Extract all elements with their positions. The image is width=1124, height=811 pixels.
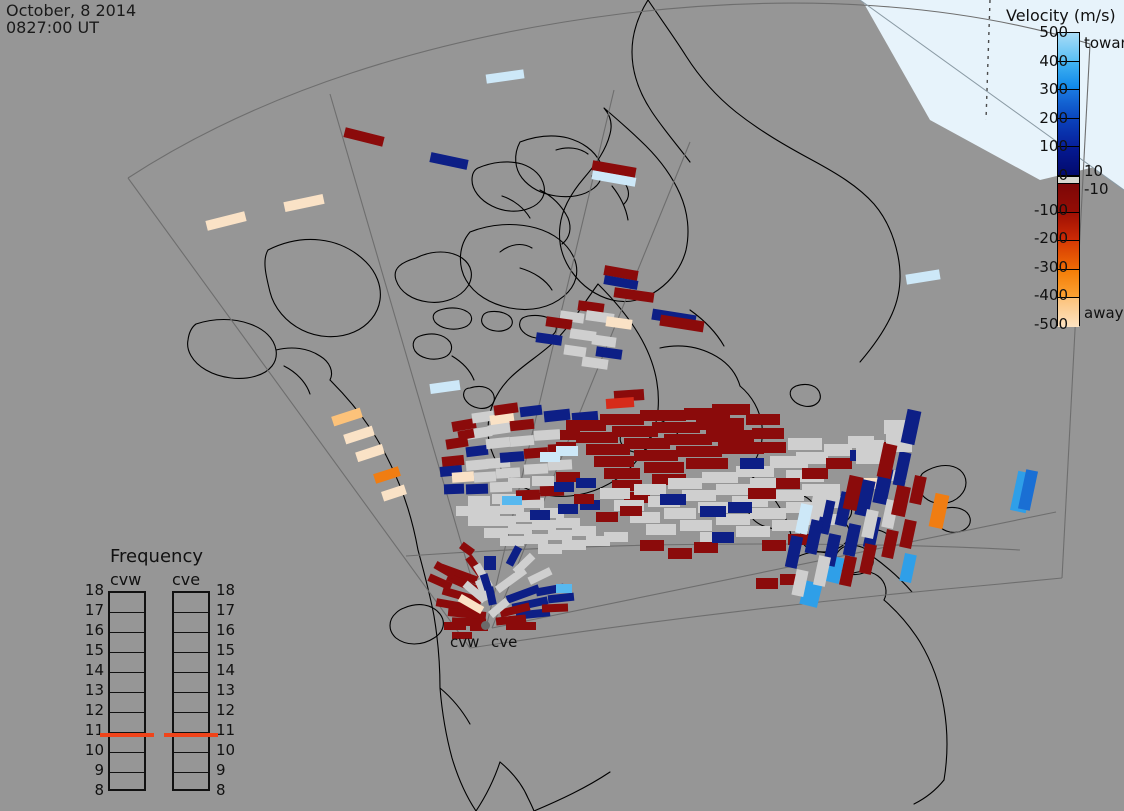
data-cell (343, 426, 375, 445)
radar-site-label-cve: cve (491, 633, 517, 651)
velocity-colorbar-panel: Velocity (m/s) 5004003002001000-100-200-… (984, 4, 1124, 334)
frequency-segment (110, 653, 144, 673)
frequency-segment (110, 633, 144, 653)
frequency-tick-right: 10 (216, 743, 235, 758)
data-cell (486, 69, 525, 83)
frequency-legend: Frequency cvw cve 18171615141312111098 1… (84, 546, 254, 786)
timestamp-label: October, 8 20140827:00 UT (6, 2, 136, 36)
frequency-tick-left: 12 (84, 703, 104, 718)
frequency-segment (110, 673, 144, 693)
frequency-column-label-cvw: cvw (110, 570, 141, 589)
frequency-segment (174, 593, 208, 613)
colorbar-tick: 200 (1022, 111, 1068, 126)
data-cell (429, 380, 460, 394)
frequency-tick-left: 10 (84, 743, 104, 758)
data-cell (381, 485, 407, 502)
data-cell (331, 408, 363, 427)
frequency-tick-right: 16 (216, 623, 235, 638)
frequency-segment (110, 773, 144, 793)
frequency-tick-right: 17 (216, 603, 235, 618)
frequency-segment (110, 753, 144, 773)
frequency-segment (174, 773, 208, 793)
colorbar-tick: 0 (1022, 168, 1068, 183)
frequency-column-label-cve: cve (172, 570, 200, 589)
frequency-tick-right: 11 (216, 723, 235, 738)
frequency-tick-left: 18 (84, 583, 104, 598)
frequency-segment (174, 673, 208, 693)
frequency-segment (174, 633, 208, 653)
colorbar-tick: -200 (1022, 231, 1068, 246)
data-cell (343, 127, 384, 146)
frequency-segment (110, 593, 144, 613)
frequency-tick-right: 15 (216, 643, 235, 658)
frequency-marker-cve (164, 733, 218, 737)
colorbar-away-label: away (1084, 306, 1124, 321)
data-cell (535, 332, 562, 346)
frequency-segment (174, 753, 208, 773)
frequency-marker-cvw (100, 733, 154, 737)
frequency-tick-right: 9 (216, 763, 226, 778)
frequency-segment (110, 713, 144, 733)
frequency-tick-right: 14 (216, 663, 235, 678)
frequency-tick-left: 8 (84, 783, 104, 798)
data-cell (563, 345, 586, 358)
data-cell (613, 287, 654, 302)
colorbar-positive-threshold-label: 10 (1084, 164, 1103, 179)
data-cell (429, 152, 468, 170)
frequency-segment (110, 693, 144, 713)
colorbar-tick: 500 (1022, 25, 1068, 40)
frequency-tick-right: 12 (216, 703, 235, 718)
data-cell (355, 444, 385, 462)
data-cell (595, 346, 622, 360)
frequency-tick-left: 16 (84, 623, 104, 638)
frequency-title: Frequency (110, 546, 203, 567)
frequency-tick-left: 15 (84, 643, 104, 658)
radar-site-dot (481, 621, 490, 630)
screenshot-root: October, 8 20140827:00 UT Velocity (m/s)… (0, 0, 1124, 811)
data-cell (283, 194, 324, 212)
frequency-tick-left: 14 (84, 663, 104, 678)
frequency-tick-right: 13 (216, 683, 235, 698)
frequency-segment (174, 693, 208, 713)
frequency-scale-cve (172, 591, 210, 791)
frequency-tick-left: 13 (84, 683, 104, 698)
data-cell (205, 211, 246, 230)
frequency-tick-right: 8 (216, 783, 226, 798)
data-cell (591, 334, 616, 347)
colorbar-tick: 300 (1022, 82, 1068, 97)
frequency-tick-right: 18 (216, 583, 235, 598)
colorbar-tick: -300 (1022, 260, 1068, 275)
timestamp-time: 0827:00 UT (6, 18, 99, 37)
colorbar-negative-threshold-label: -10 (1084, 182, 1109, 197)
data-cell (581, 356, 608, 370)
frequency-segment (110, 613, 144, 633)
frequency-scale-cvw (108, 591, 146, 791)
frequency-segment (174, 713, 208, 733)
colorbar-tick: -100 (1022, 203, 1068, 218)
colorbar-tick: 400 (1022, 54, 1068, 69)
colorbar-tick: 100 (1022, 139, 1068, 154)
frequency-segment (174, 613, 208, 633)
data-cell (373, 466, 401, 484)
colorbar-tick: -400 (1022, 288, 1068, 303)
data-cell (905, 269, 940, 284)
frequency-tick-left: 17 (84, 603, 104, 618)
colorbar-toward-label: toward (1084, 36, 1124, 51)
radar-site-label-cvw: cvw (450, 633, 479, 651)
frequency-tick-left: 9 (84, 763, 104, 778)
data-cell (605, 316, 632, 330)
colorbar-tick: -500 (1022, 317, 1068, 332)
frequency-segment (174, 653, 208, 673)
